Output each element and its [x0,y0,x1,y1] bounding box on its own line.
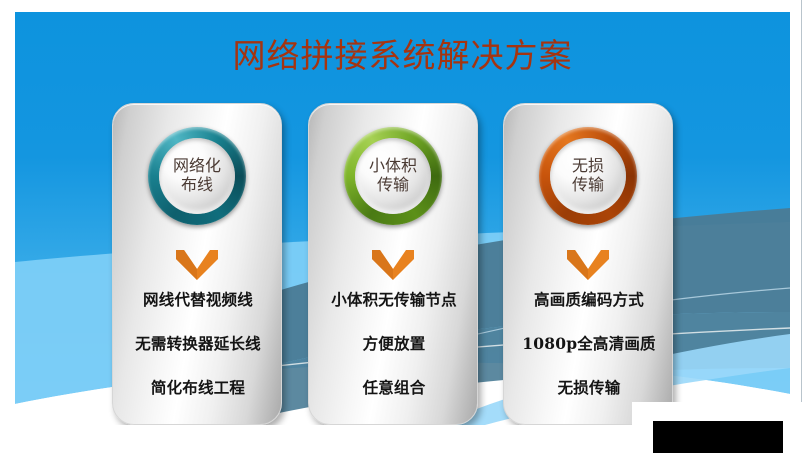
badge-inner-3: 无损 传输 [550,138,626,214]
feature-line: 小体积无传输节点 [309,288,479,310]
badge-label-line1: 无损 [572,157,604,176]
feature-line: 1080p全高清画质 [504,332,674,354]
badge-label-line2: 传输 [572,176,604,195]
feature-line: 无需转换器延长线 [113,332,283,354]
badge-label-line2: 传输 [377,176,409,195]
feature-lines-2: 小体积无传输节点 方便放置 任意组合 [309,288,479,398]
presentation-slide: 网络拼接系统解决方案 网络化 布线 网线代替视频线 无需转换 [15,12,790,425]
badge-inner-1: 网络化 布线 [159,138,235,214]
chevron-down-icon [372,250,414,280]
badge-label-line1: 小体积 [369,157,417,176]
feature-line: 无损传输 [504,376,674,398]
badge-circle-2: 小体积 传输 [344,127,442,225]
redaction-block [653,421,783,453]
feature-card-1[interactable]: 网络化 布线 网线代替视频线 无需转换器延长线 简化布线工程 [112,103,282,425]
badge-label-line2: 布线 [181,176,213,195]
feature-card-3[interactable]: 无损 传输 高画质编码方式 1080p全高清画质 无损传输 [503,103,673,425]
feature-lines-3: 高画质编码方式 1080p全高清画质 无损传输 [504,288,674,398]
feature-line: 网线代替视频线 [113,288,283,310]
slide-page: 网络拼接系统解决方案 网络化 布线 网线代替视频线 无需转换 [0,0,808,474]
chevron-down-icon [567,250,609,280]
feature-lines-1: 网线代替视频线 无需转换器延长线 简化布线工程 [113,288,283,398]
badge-label-line1: 网络化 [173,157,221,176]
badge-circle-1: 网络化 布线 [148,127,246,225]
badge-circle-3: 无损 传输 [539,127,637,225]
feature-line: 简化布线工程 [113,376,283,398]
feature-line: 方便放置 [309,332,479,354]
badge-inner-2: 小体积 传输 [355,138,431,214]
feature-line: 任意组合 [309,376,479,398]
feature-line: 高画质编码方式 [504,288,674,310]
feature-card-2[interactable]: 小体积 传输 小体积无传输节点 方便放置 任意组合 [308,103,478,425]
card-row: 网络化 布线 网线代替视频线 无需转换器延长线 简化布线工程 [15,12,790,425]
chevron-down-icon [176,250,218,280]
